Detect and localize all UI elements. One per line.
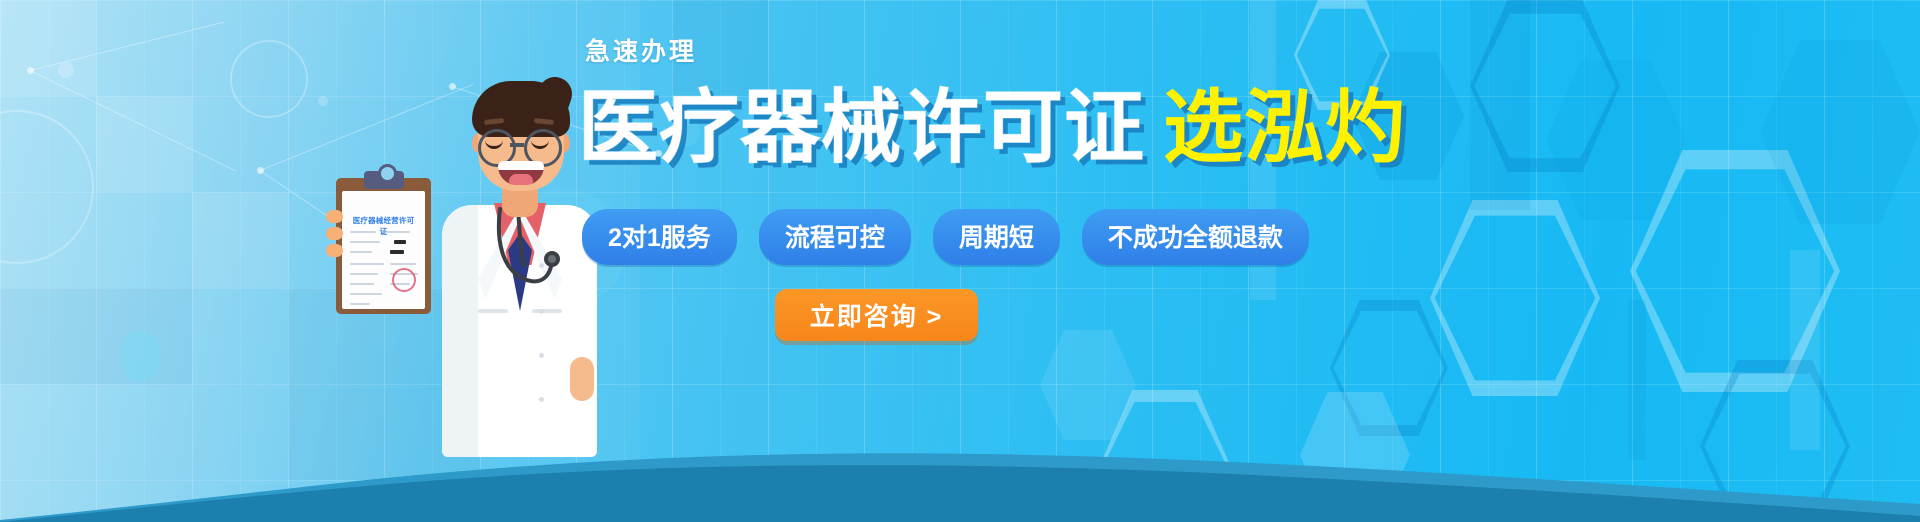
coat-button xyxy=(539,397,544,402)
bottom-wave xyxy=(0,392,1920,522)
consult-now-button[interactable]: 立即咨询 > xyxy=(775,289,978,341)
red-stamp xyxy=(392,268,416,292)
promo-banner: 医疗器械经营许可证 xyxy=(0,0,1920,522)
glasses-bridge xyxy=(510,143,524,147)
feature-pill-list: 2对1服务 流程可控 周期短 不成功全额退款 xyxy=(582,209,1309,265)
feature-pill[interactable]: 2对1服务 xyxy=(582,209,737,265)
headline-white-text: 医疗器械许可证 xyxy=(578,83,1145,172)
clipboard-title: 医疗器械经营许可证 xyxy=(350,215,417,237)
clipboard-certificate: 医疗器械经营许可证 xyxy=(336,178,431,314)
doctor-tongue xyxy=(509,174,533,185)
doctor-coat-shadow xyxy=(442,205,478,457)
clipboard-ring xyxy=(378,164,397,183)
doctor-teeth xyxy=(498,161,544,170)
stethoscope-icon xyxy=(480,207,568,315)
doctor-hand xyxy=(570,357,594,401)
feature-pill[interactable]: 周期短 xyxy=(933,209,1060,265)
hand-fingers xyxy=(326,210,342,264)
feature-pill[interactable]: 不成功全额退款 xyxy=(1082,209,1309,265)
headline: 医疗器械许可证选泓灼 xyxy=(578,88,1406,168)
headline-yellow-text: 选泓灼 xyxy=(1163,83,1406,172)
eyebrow-text: 急速办理 xyxy=(585,40,1345,65)
banner-copy: 急速办理 xyxy=(585,40,1345,65)
feature-pill[interactable]: 流程可控 xyxy=(759,209,911,265)
coat-button xyxy=(539,353,544,358)
clipboard-paper: 医疗器械经营许可证 xyxy=(342,191,425,309)
